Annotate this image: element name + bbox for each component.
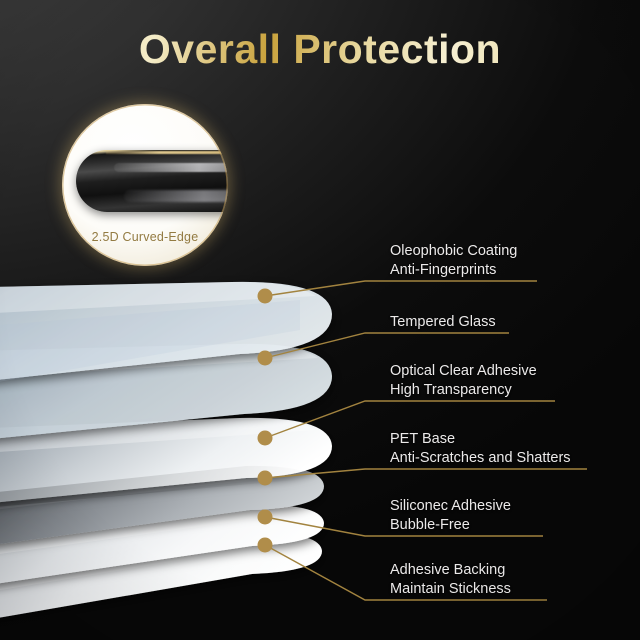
callout-adhesive-backing: Adhesive Backing Maintain Stickness	[390, 561, 511, 599]
inset-caption: 2.5D Curved-Edge	[62, 230, 228, 244]
leader-line-2	[265, 333, 509, 358]
callout-line-2: Maintain Stickness	[390, 580, 511, 599]
callout-dot-4	[258, 471, 273, 486]
phone-edge-illustration	[76, 150, 228, 212]
callout-dot-1	[258, 289, 273, 304]
callout-line-1: PET Base	[390, 431, 455, 447]
callout-dot-5	[258, 510, 273, 525]
callout-line-2: Bubble-Free	[390, 516, 511, 535]
callout-line-2: High Transparency	[390, 381, 537, 400]
phone-gold-strip	[106, 151, 228, 154]
callout-line-1: Optical Clear Adhesive	[390, 363, 537, 379]
callout-tempered-glass: Tempered Glass	[390, 313, 496, 332]
callout-line-2: Anti-Fingerprints	[390, 261, 517, 280]
leader-lines	[0, 0, 640, 640]
page-title: Overall Protection	[0, 27, 640, 72]
leader-line-1	[265, 281, 537, 296]
callout-optical-clear-adhesive: Optical Clear Adhesive High Transparency	[390, 362, 537, 400]
callout-dot-6	[258, 538, 273, 553]
callout-line-1: Oleophobic Coating	[390, 243, 517, 259]
callout-siliconec-adhesive: Siliconec Adhesive Bubble-Free	[390, 497, 511, 535]
leader-line-4	[265, 469, 587, 478]
callout-pet-base: PET Base Anti-Scratches and Shatters	[390, 430, 571, 468]
phone-highlight-upper	[114, 163, 228, 172]
callout-dot-2	[258, 351, 273, 366]
callout-line-1: Siliconec Adhesive	[390, 498, 511, 514]
curved-edge-inset: 2.5D Curved-Edge	[62, 104, 228, 266]
callout-line-1: Adhesive Backing	[390, 562, 505, 578]
callout-oleophobic-coating: Oleophobic Coating Anti-Fingerprints	[390, 242, 517, 280]
callout-dot-3	[258, 431, 273, 446]
phone-highlight-lower	[124, 190, 228, 202]
product-infographic: Overall Protection 2.5D Curved-Edge Oleo…	[0, 0, 640, 640]
callout-line-1: Tempered Glass	[390, 314, 496, 330]
callout-line-2: Anti-Scratches and Shatters	[390, 449, 571, 468]
